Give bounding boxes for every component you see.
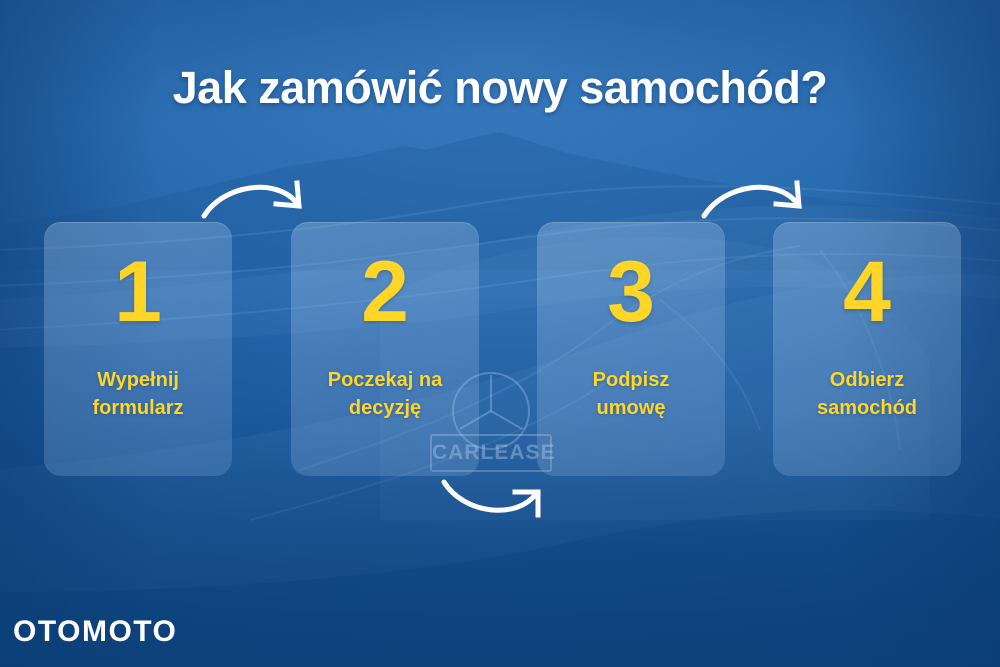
step-card-2[interactable]: 2 Poczekaj nadecyzję — [291, 222, 479, 476]
step-label-3: Podpiszumowę — [545, 366, 717, 422]
step-number-2: 2 — [291, 244, 479, 340]
page-title: Jak zamówić nowy samochód? — [0, 62, 1000, 114]
step-card-1[interactable]: 1 Wypełnijformularz — [44, 222, 232, 476]
step-card-3[interactable]: 3 Podpiszumowę — [537, 222, 725, 476]
step-number-4: 4 — [773, 244, 961, 340]
step-label-4: Odbierzsamochód — [781, 366, 953, 422]
steps-container: 1 Wypełnijformularz 2 Poczekaj nadecyzję… — [44, 222, 960, 476]
step-label-2: Poczekaj nadecyzję — [299, 366, 471, 422]
step-card-4[interactable]: 4 Odbierzsamochód — [773, 222, 961, 476]
step-number-1: 1 — [44, 244, 232, 340]
otomoto-logo[interactable]: OTOMOTO — [13, 615, 177, 649]
infographic-canvas: CARLEASE Jak zamówić nowy samochód? 1 Wy… — [0, 0, 1000, 667]
step-label-1: Wypełnijformularz — [52, 366, 224, 422]
step-number-3: 3 — [537, 244, 725, 340]
